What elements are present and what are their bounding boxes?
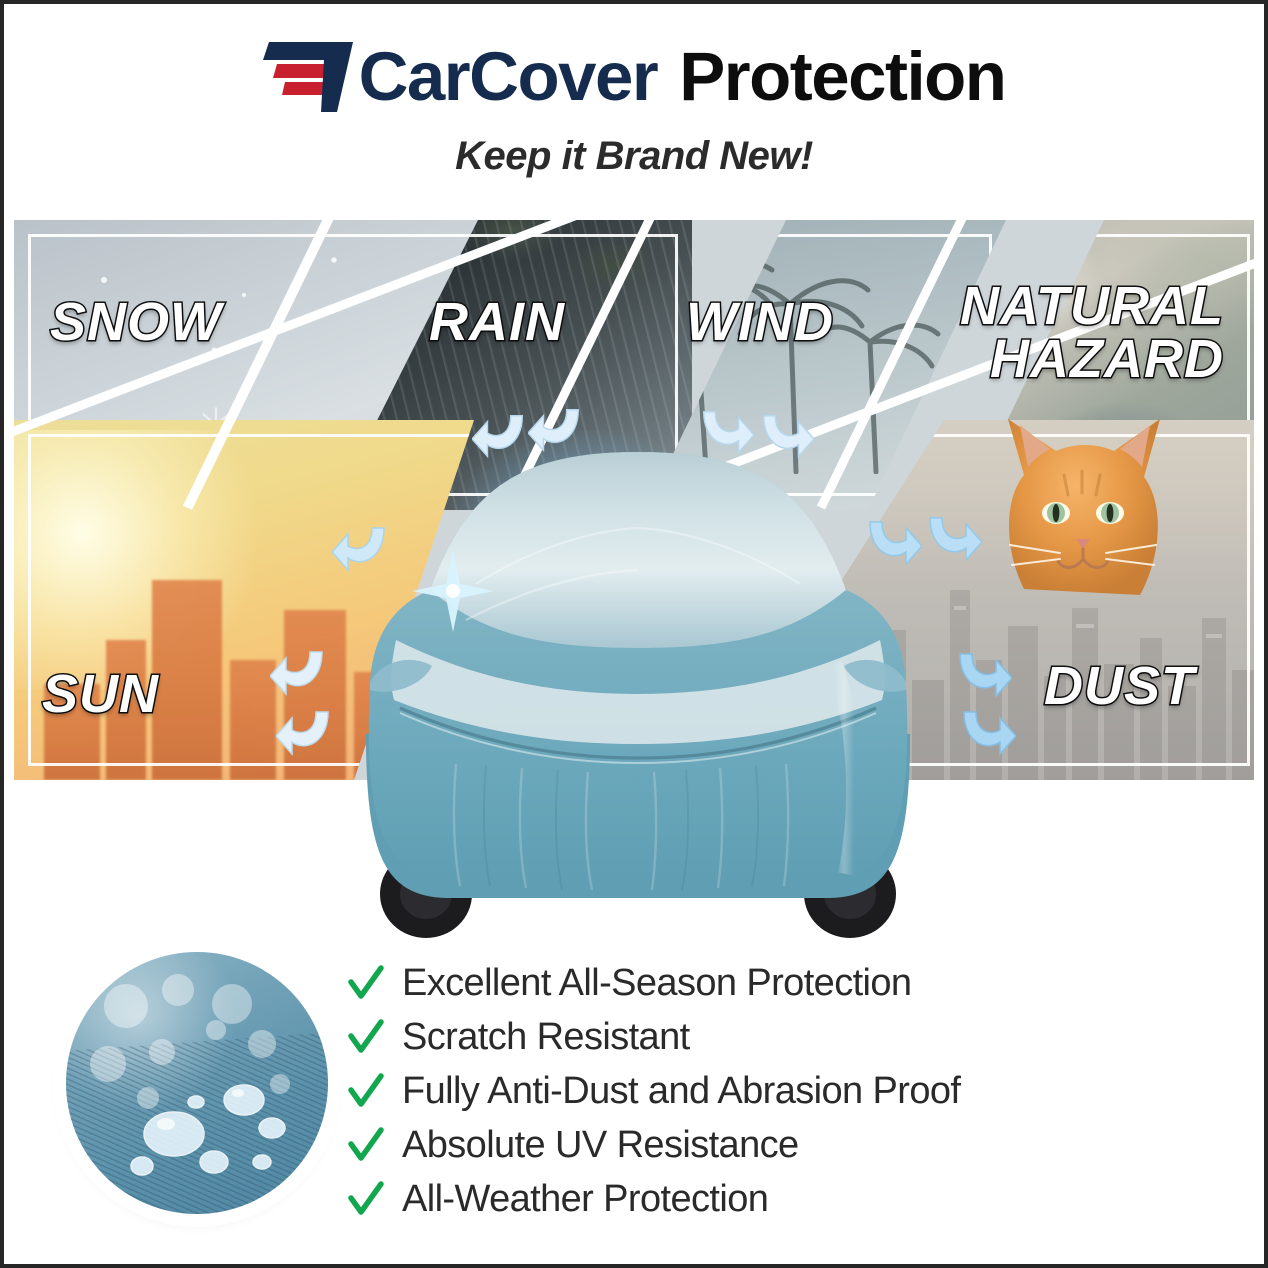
panel-label-rain: RAIN (429, 296, 565, 349)
brand-lockup: CarCover Protection (4, 30, 1264, 122)
tagline: Keep it Brand New! (4, 134, 1264, 179)
deflect-arrow-icon (472, 408, 532, 466)
list-item: Excellent All-Season Protection (348, 956, 1178, 1010)
panel-label-dust: DUST (1044, 660, 1195, 713)
deflect-arrow-icon (860, 514, 922, 574)
panel-label-wind: WIND (686, 296, 834, 349)
deflect-arrow-icon (694, 404, 754, 462)
deflect-arrow-icon (276, 704, 338, 764)
product-infographic: CarCover Protection Keep it Brand New! (0, 0, 1268, 1268)
list-item: Fully Anti-Dust and Abrasion Proof (348, 1064, 1178, 1118)
water-droplets-icon (66, 952, 328, 1214)
deflect-arrow-icon (754, 408, 814, 466)
list-item: Scratch Resistant (348, 1010, 1178, 1064)
deflect-arrow-icon (270, 644, 332, 704)
panel-label-natural-hazard: NATURAL HAZARD (954, 280, 1224, 386)
check-icon (348, 965, 384, 1001)
feature-label: Absolute UV Resistance (402, 1124, 799, 1167)
check-icon (348, 1181, 384, 1217)
check-icon (348, 1127, 384, 1163)
feature-label: All-Weather Protection (402, 1178, 768, 1221)
feature-label: Scratch Resistant (402, 1016, 690, 1059)
deflect-arrow-icon (332, 520, 394, 580)
panel-label-snow: SNOW (50, 296, 222, 349)
brand-name-primary: CarCover (359, 42, 658, 111)
panel-label-sun: SUN (42, 668, 159, 721)
brand-name-secondary: Protection (679, 42, 1005, 111)
list-item: Absolute UV Resistance (348, 1118, 1178, 1172)
feature-list: Excellent All-Season Protection Scratch … (348, 956, 1178, 1226)
deflect-arrow-icon (528, 402, 588, 460)
check-icon (348, 1073, 384, 1109)
water-beading-fabric-swatch (66, 952, 328, 1214)
deflect-arrow-icon (954, 704, 1016, 764)
header: CarCover Protection Keep it Brand New! (4, 30, 1264, 179)
deflect-arrow-icon (950, 646, 1012, 706)
icarcover-flag-logo-icon (263, 38, 359, 116)
car-cover-product-image (326, 434, 950, 944)
feature-label: Excellent All-Season Protection (402, 962, 911, 1005)
orange-cat-icon (964, 389, 1194, 619)
check-icon (348, 1019, 384, 1055)
list-item: All-Weather Protection (348, 1172, 1178, 1226)
feature-label: Fully Anti-Dust and Abrasion Proof (402, 1070, 960, 1113)
